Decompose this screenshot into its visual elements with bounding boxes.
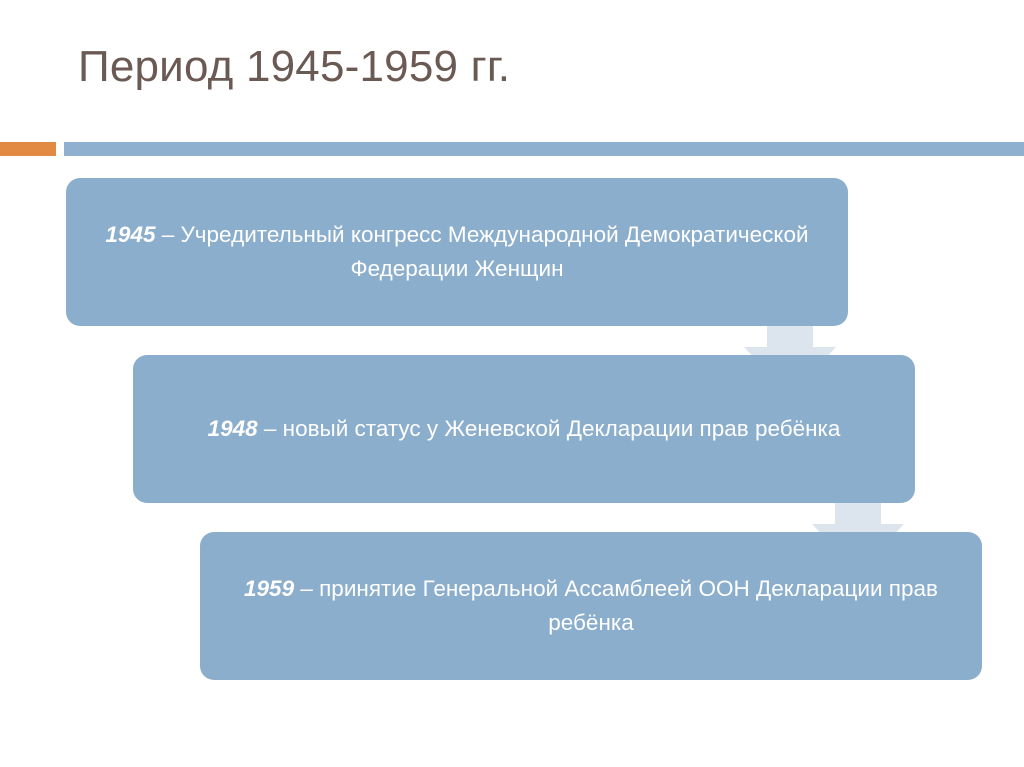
step-text-1959: принятие Генеральной Ассамблеей ООН Декл… xyxy=(319,576,938,635)
step-dash-1: – xyxy=(155,222,180,247)
step-dash-2: – xyxy=(258,416,283,441)
page-title: Период 1945-1959 гг. xyxy=(78,42,510,92)
step-year-1959: 1959 xyxy=(244,576,294,601)
accent-rule xyxy=(0,142,56,156)
step-box-1948: 1948 – новый статус у Женевской Декларац… xyxy=(133,355,915,503)
step-year-1948: 1948 xyxy=(208,416,258,441)
step-text-1948: новый статус у Женевской Декларации прав… xyxy=(283,416,841,441)
step-box-1945: 1945 – Учредительный конгресс Международ… xyxy=(66,178,848,326)
step-box-1959: 1959 – принятие Генеральной Ассамблеей О… xyxy=(200,532,982,680)
step-year-1945: 1945 xyxy=(105,222,155,247)
step-text-1945: Учредительный конгресс Международной Дем… xyxy=(181,222,809,281)
divider-rule xyxy=(64,142,1024,156)
slide: Период 1945-1959 гг. 1945 – Учредительны… xyxy=(0,0,1024,767)
step-dash-3: – xyxy=(294,576,319,601)
